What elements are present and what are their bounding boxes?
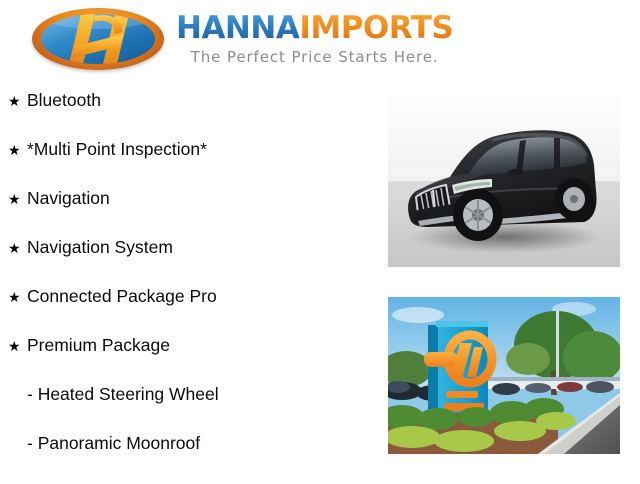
vehicle-features-list: ★ Bluetooth ★ *Multi Point Inspection* ★… xyxy=(0,92,380,484)
list-item: ★ Premium Package xyxy=(0,337,380,386)
list-item-label: Premium Package xyxy=(27,337,170,355)
list-item: ★ Navigation xyxy=(0,190,380,239)
vehicle-photo-image xyxy=(388,95,620,267)
star-bullet-icon: ★ xyxy=(8,290,27,304)
wordmark-hanna: HANNA xyxy=(176,10,299,46)
list-item-label: - Panoramic Moonroof xyxy=(27,435,200,453)
brand-wordmark: HANNAIMPORTS xyxy=(176,13,453,44)
dealership-photo-image xyxy=(388,297,620,454)
vehicle-photo[interactable] xyxy=(388,95,620,267)
star-bullet-icon: ★ xyxy=(8,94,27,108)
list-item-label: Navigation System xyxy=(27,239,173,257)
brand-header: HANNAIMPORTS The Perfect Price Starts He… xyxy=(0,0,640,86)
dealership-photo[interactable] xyxy=(388,297,620,454)
star-bullet-icon: ★ xyxy=(8,339,27,353)
brand-lockup: HANNAIMPORTS The Perfect Price Starts He… xyxy=(32,8,453,70)
list-item: - Heated Steering Wheel xyxy=(0,386,380,435)
hanna-oval-h-logo-icon xyxy=(32,8,164,70)
list-item: ★ Connected Package Pro xyxy=(0,288,380,337)
list-item: ★ Navigation System xyxy=(0,239,380,288)
brand-text-block: HANNAIMPORTS The Perfect Price Starts He… xyxy=(176,13,453,66)
list-item-label: Bluetooth xyxy=(27,92,101,110)
list-item: - Panoramic Moonroof xyxy=(0,435,380,484)
star-bullet-icon: ★ xyxy=(8,241,27,255)
brand-tagline: The Perfect Price Starts Here. xyxy=(191,48,439,66)
list-item: ★ Bluetooth xyxy=(0,92,380,141)
logo-h-letter-icon xyxy=(32,8,164,70)
star-bullet-icon: ★ xyxy=(8,192,27,206)
star-bullet-icon: ★ xyxy=(8,143,27,157)
list-item: ★ *Multi Point Inspection* xyxy=(0,141,380,190)
list-item-label: - Heated Steering Wheel xyxy=(27,386,219,404)
list-item-label: Connected Package Pro xyxy=(27,288,217,306)
list-item-label: Navigation xyxy=(27,190,110,208)
wordmark-imports: IMPORTS xyxy=(299,10,453,46)
list-item-label: *Multi Point Inspection* xyxy=(27,141,207,159)
